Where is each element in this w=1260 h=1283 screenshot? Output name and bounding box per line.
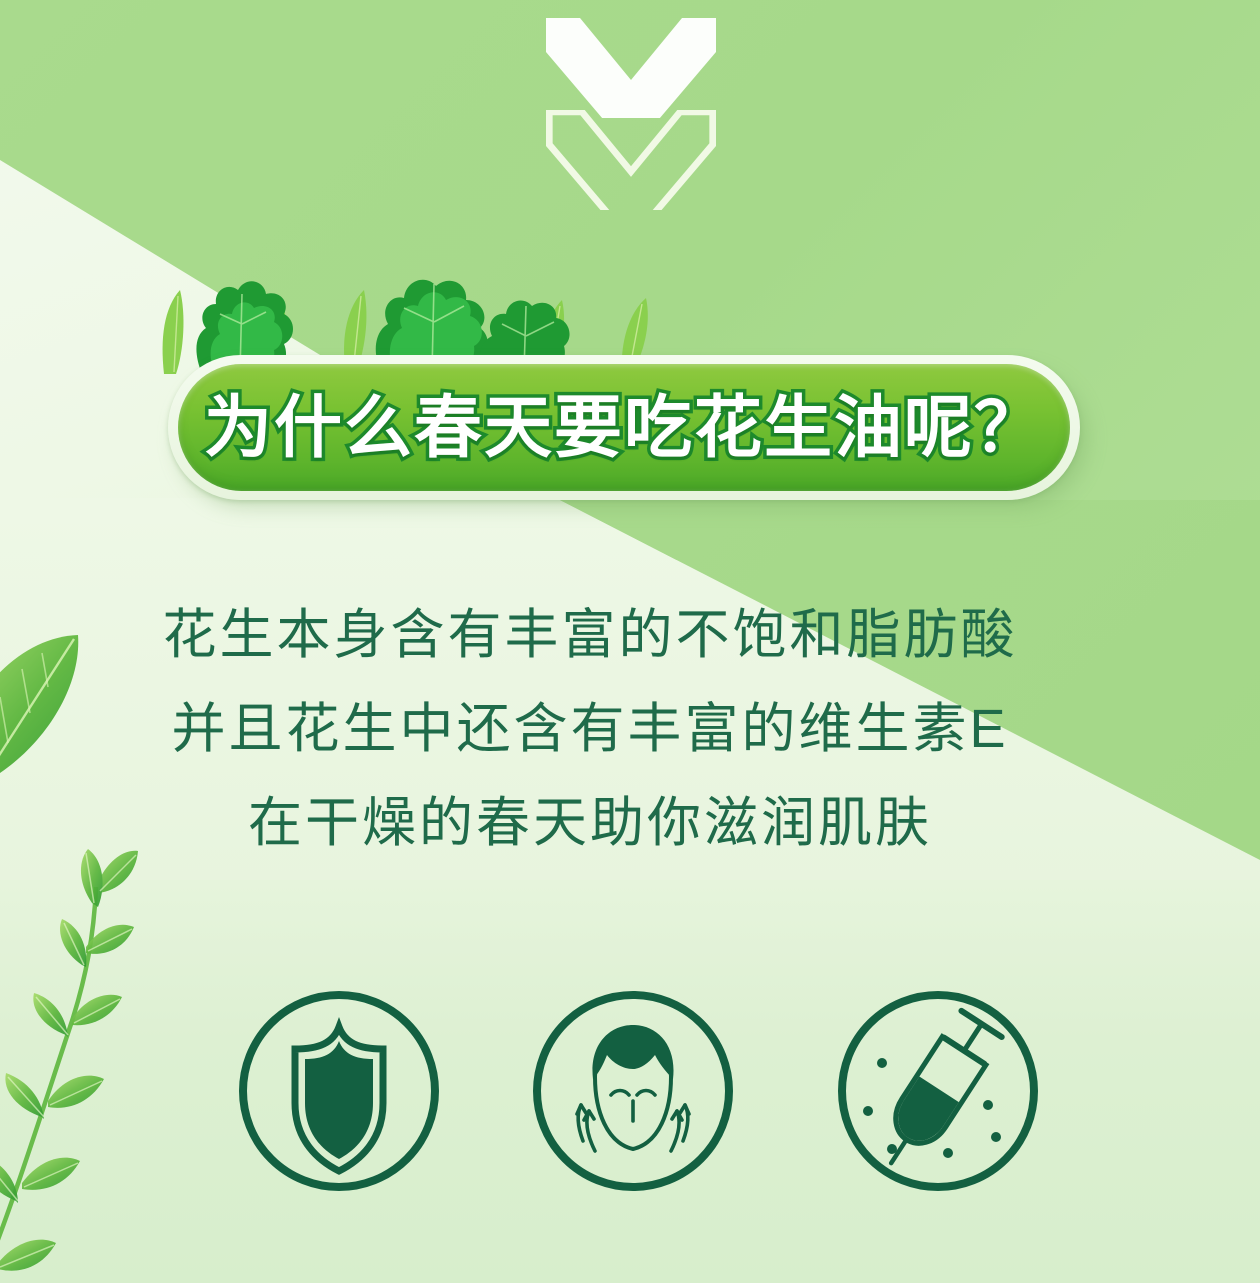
body-copy: 花生本身含有丰富的不饱和脂肪酸 并且花生中还含有丰富的维生素E 在干燥的春天助你… <box>0 608 1180 850</box>
chevron-down-filled-icon <box>546 18 716 118</box>
body-line-3: 在干燥的春天助你滋润肌肤 <box>0 796 1180 850</box>
benefit-icon-syringe <box>832 985 1044 1197</box>
body-line-1: 花生本身含有丰富的不饱和脂肪酸 <box>0 608 1180 662</box>
poster-root: 为什么春天要吃花生油呢？ 花生本身含有丰富的不饱和脂肪酸 并且花生中还含有丰富的… <box>0 0 1260 1283</box>
benefit-icon-face-lifting <box>527 985 739 1197</box>
body-line-2: 并且花生中还含有丰富的维生素E <box>0 702 1180 756</box>
left-vine-decoration <box>0 635 166 1283</box>
shield-icon <box>295 1027 383 1171</box>
scroll-indicator <box>546 18 716 198</box>
vine-leaflets <box>0 849 138 1271</box>
title-banner: 为什么春天要吃花生油呢？ <box>178 364 1070 491</box>
vine-large-leaf <box>0 635 78 787</box>
chevron-down-outline-icon <box>546 110 716 210</box>
vine-leaflet-veins <box>0 853 136 1267</box>
benefit-icon-shield <box>233 985 445 1197</box>
face-lifting-icon <box>577 1025 689 1151</box>
benefit-icon-row <box>0 985 1260 1205</box>
icon-circle-outline <box>537 995 729 1187</box>
page-title: 为什么春天要吃花生油呢？ <box>204 394 1044 462</box>
